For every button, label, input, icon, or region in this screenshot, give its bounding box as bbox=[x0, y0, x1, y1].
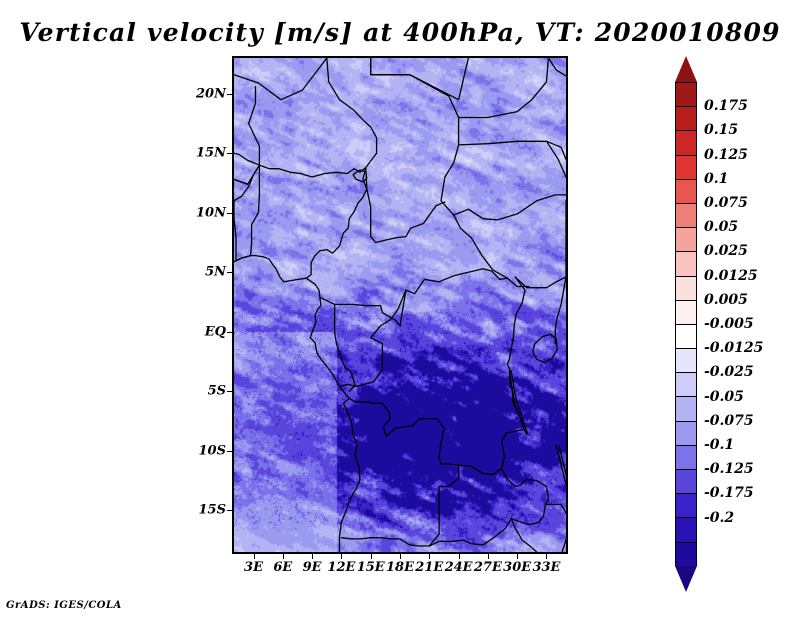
colorbar-cell bbox=[675, 324, 697, 348]
colorbar-cell bbox=[675, 227, 697, 251]
colorbar-tick-label: -0.2 bbox=[704, 510, 734, 526]
y-axis-tick-label: EQ bbox=[188, 324, 226, 339]
x-axis-tick bbox=[341, 554, 342, 559]
colorbar-tick-label: 0.05 bbox=[704, 219, 738, 235]
y-axis-tick-label: 10S bbox=[188, 443, 226, 458]
map-boundary-line bbox=[429, 419, 458, 546]
map-boundary-line bbox=[459, 141, 547, 145]
map-boundary-line bbox=[555, 277, 566, 344]
map-boundary-line bbox=[533, 334, 557, 363]
y-axis-tick bbox=[227, 451, 232, 452]
map-boundary-line bbox=[371, 58, 529, 287]
x-axis-tick bbox=[254, 554, 255, 559]
colorbar-cell bbox=[675, 179, 697, 203]
x-axis-tick-label: 33E bbox=[532, 560, 560, 575]
x-axis-tick-label: 12E bbox=[327, 560, 355, 575]
x-axis-tick bbox=[400, 554, 401, 559]
colorbar-cell bbox=[675, 203, 697, 227]
map-boundary-line bbox=[234, 58, 327, 100]
colorbar-cell bbox=[675, 276, 697, 300]
x-axis-tick-label: 3E bbox=[244, 560, 263, 575]
colorbar-tick-label: -0.005 bbox=[704, 316, 754, 332]
colorbar-cell bbox=[675, 396, 697, 420]
colorbar-cell bbox=[675, 130, 697, 154]
colorbar-max-arrow bbox=[675, 56, 697, 82]
y-axis-tick-label: 10N bbox=[188, 205, 226, 220]
y-axis-tick-label: 20N bbox=[188, 86, 226, 101]
y-axis-tick-label: 5S bbox=[188, 384, 226, 399]
colorbar-tick-label: 0.15 bbox=[704, 122, 738, 138]
map-boundary-line bbox=[546, 504, 567, 552]
map-boundary-line bbox=[327, 58, 377, 168]
map-boundary-line bbox=[259, 165, 365, 177]
map-boundary-line bbox=[341, 364, 548, 546]
colorbar-cell bbox=[675, 106, 697, 130]
colorbar-cell bbox=[675, 300, 697, 324]
y-axis-tick-label: 15S bbox=[188, 503, 226, 518]
x-axis-tick-label: 27E bbox=[474, 560, 502, 575]
map-boundary-line bbox=[349, 398, 437, 436]
colorbar-tick-label: -0.075 bbox=[704, 413, 754, 429]
y-axis-tick-label: 15N bbox=[188, 146, 226, 161]
map-boundary-line bbox=[459, 58, 549, 118]
y-axis-tick bbox=[227, 153, 232, 154]
footer-credit: GrADS: IGES/COLA bbox=[6, 600, 122, 611]
y-axis-tick-label: 5N bbox=[188, 265, 226, 280]
colorbar-cell bbox=[675, 517, 697, 541]
x-axis-tick-label: 21E bbox=[415, 560, 443, 575]
colorbar-tick-label: 0.175 bbox=[704, 98, 748, 114]
colorbar-cell bbox=[675, 469, 697, 493]
x-axis-tick bbox=[488, 554, 489, 559]
map-plot-area bbox=[232, 56, 568, 554]
map-boundary-line bbox=[454, 195, 566, 220]
colorbar-cell bbox=[675, 155, 697, 179]
map-boundary-line bbox=[547, 141, 567, 177]
map-boundary-line bbox=[371, 58, 469, 100]
map-boundary-line bbox=[559, 446, 566, 502]
colorbar-tick-label: 0.075 bbox=[704, 195, 748, 211]
y-axis-tick bbox=[227, 391, 232, 392]
colorbar-cell bbox=[675, 542, 697, 566]
colorbar-cell bbox=[675, 421, 697, 445]
map-boundary-line bbox=[335, 304, 356, 391]
x-axis-tick bbox=[517, 554, 518, 559]
map-boundary-line bbox=[371, 290, 406, 338]
y-axis-tick bbox=[227, 272, 232, 273]
colorbar-cell bbox=[675, 251, 697, 275]
colorbar-tick-label: 0.125 bbox=[704, 147, 748, 163]
colorbar-tick-label: 0.0125 bbox=[704, 268, 758, 284]
x-axis-tick-label: 9E bbox=[303, 560, 322, 575]
colorbar-cell bbox=[675, 493, 697, 517]
y-axis-tick bbox=[227, 94, 232, 95]
page-title: Vertical velocity [m/s] at 400hPa, VT: 2… bbox=[0, 18, 800, 47]
map-boundary-line bbox=[234, 256, 306, 282]
x-axis-tick bbox=[371, 554, 372, 559]
country-boundaries-overlay bbox=[234, 58, 566, 552]
colorbar-tick-label: -0.05 bbox=[704, 389, 744, 405]
y-axis-tick bbox=[227, 332, 232, 333]
y-axis-tick bbox=[227, 510, 232, 511]
map-boundary-line bbox=[548, 58, 566, 76]
colorbar-tick-label: 0.025 bbox=[704, 243, 748, 259]
x-axis-tick-label: 18E bbox=[386, 560, 414, 575]
map-boundary-line bbox=[234, 87, 259, 185]
colorbar-tick-label: 0.1 bbox=[704, 171, 728, 187]
map-boundary-line bbox=[406, 269, 508, 294]
x-axis-tick-label: 6E bbox=[273, 560, 292, 575]
colorbar-cell bbox=[675, 445, 697, 469]
map-boundary-line bbox=[340, 398, 361, 552]
x-axis-tick bbox=[312, 554, 313, 559]
x-axis-tick bbox=[546, 554, 547, 559]
map-boundary-line bbox=[371, 202, 445, 243]
x-axis-tick-label: 30E bbox=[503, 560, 531, 575]
colorbar-tick-label: -0.1 bbox=[704, 437, 734, 453]
x-axis-tick bbox=[459, 554, 460, 559]
colorbar-tick-label: -0.175 bbox=[704, 485, 754, 501]
x-axis-tick bbox=[429, 554, 430, 559]
x-axis-tick bbox=[283, 554, 284, 559]
x-axis-tick-label: 15E bbox=[357, 560, 385, 575]
colorbar-tick-label: 0.005 bbox=[704, 292, 748, 308]
colorbar-cell bbox=[675, 348, 697, 372]
colorbar bbox=[675, 56, 697, 592]
colorbar-min-arrow bbox=[675, 566, 697, 592]
y-axis-tick bbox=[227, 213, 232, 214]
map-boundary-line bbox=[320, 290, 406, 326]
map-boundary-line bbox=[234, 153, 259, 165]
map-boundary-line bbox=[459, 465, 502, 475]
colorbar-cell bbox=[675, 372, 697, 396]
colorbar-cell bbox=[675, 82, 697, 106]
map-boundary-line bbox=[234, 179, 248, 184]
map-boundary-line bbox=[306, 278, 349, 398]
map-boundary-line bbox=[234, 201, 236, 259]
x-axis-tick-label: 24E bbox=[445, 560, 473, 575]
colorbar-tick-label: -0.025 bbox=[704, 364, 754, 380]
map-boundary-line bbox=[507, 277, 525, 364]
colorbar-tick-label: -0.125 bbox=[704, 461, 754, 477]
map-boundary-line bbox=[340, 338, 383, 387]
colorbar-tick-label: -0.0125 bbox=[704, 340, 763, 356]
map-boundary-line bbox=[306, 168, 367, 279]
